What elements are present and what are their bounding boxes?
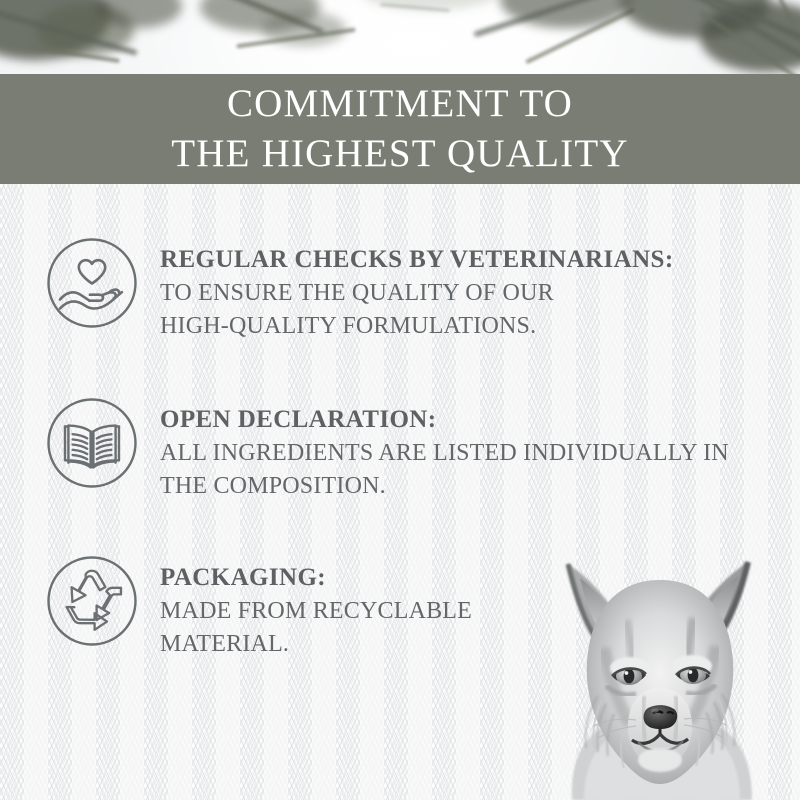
page-title-line-2: THE HIGHEST QUALITY [171, 129, 629, 179]
feature-body-line: TO ENSURE THE QUALITY OF OUR [160, 277, 674, 310]
feature-body-line: THE COMPOSITION. [160, 470, 729, 503]
feature-body: MADE FROM RECYCLABLE MATERIAL. [160, 595, 472, 661]
open-book-icon [46, 397, 138, 489]
hero-photo-trees-sky [0, 0, 800, 74]
feature-body-line: ALL INGREDIENTS ARE LISTED INDIVIDUALLY … [160, 437, 729, 470]
quality-commitment-infographic: COMMITMENT TO THE HIGHEST QUALITY REGULA… [0, 0, 800, 800]
feature-item-regular-checks: REGULAR CHECKS BY VETERINARIANS: TO ENSU… [46, 237, 766, 343]
feature-body-line: MADE FROM RECYCLABLE [160, 595, 472, 628]
title-banner: COMMITMENT TO THE HIGHEST QUALITY [0, 74, 800, 184]
feature-body-line: MATERIAL. [160, 628, 472, 661]
recycling-icon [46, 555, 138, 647]
feature-body: ALL INGREDIENTS ARE LISTED INDIVIDUALLY … [160, 437, 729, 503]
feature-body: TO ENSURE THE QUALITY OF OUR HIGH-QUALIT… [160, 277, 674, 343]
feature-title: OPEN DECLARATION: [160, 405, 729, 435]
feature-item-open-declaration: OPEN DECLARATION: ALL INGREDIENTS ARE LI… [46, 397, 766, 503]
feature-title: PACKAGING: [160, 563, 472, 593]
feature-text: OPEN DECLARATION: ALL INGREDIENTS ARE LI… [160, 397, 729, 503]
page-title-line-1: COMMITMENT TO [227, 79, 573, 129]
feature-text: REGULAR CHECKS BY VETERINARIANS: TO ENSU… [160, 237, 674, 343]
feature-body-line: HIGH-QUALITY FORMULATIONS. [160, 310, 674, 343]
heart-in-hand-icon [46, 237, 138, 329]
feature-text: PACKAGING: MADE FROM RECYCLABLE MATERIAL… [160, 555, 472, 661]
feature-title: REGULAR CHECKS BY VETERINARIANS: [160, 245, 674, 275]
wolf-portrait-photo [526, 528, 794, 800]
